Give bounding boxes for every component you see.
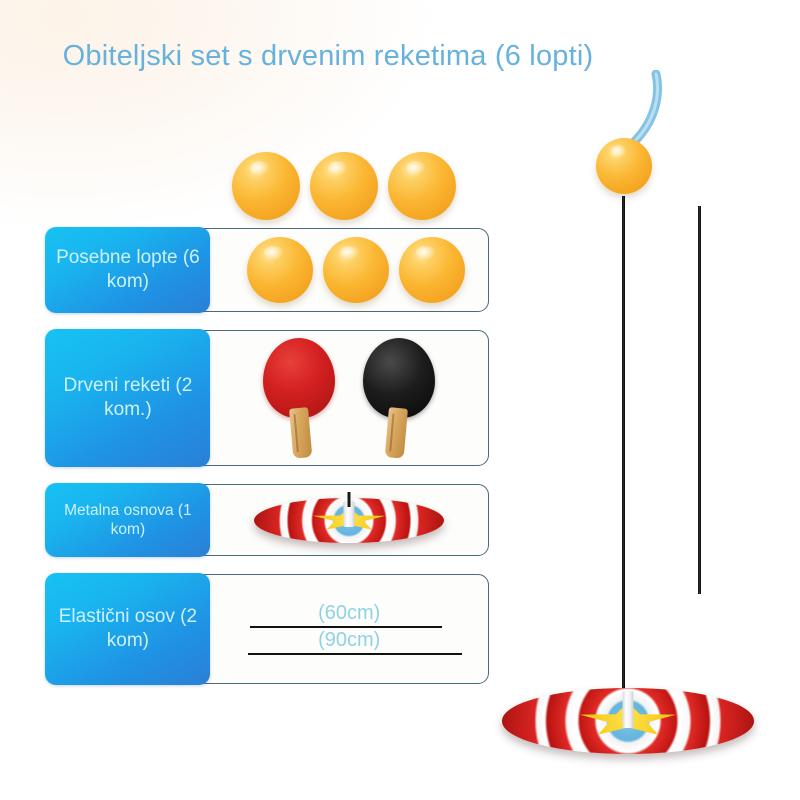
- spec-table: Posebne lopte (6 kom) Drveni reketi (2 k…: [46, 228, 489, 702]
- spec-row-rods: Elastični osov (2 kom) (60cm) (90cm): [46, 574, 489, 684]
- metal-base-icon: [254, 491, 444, 549]
- spec-content-balls: [210, 229, 488, 311]
- paddle-head: [363, 338, 435, 418]
- rod-line-60: [250, 626, 442, 628]
- spec-row-paddles: Drveni reketi (2 kom.): [46, 330, 489, 466]
- ping-pong-ball: [323, 237, 389, 303]
- balls-group: [247, 237, 465, 303]
- ping-pong-ball: [232, 152, 300, 220]
- spec-label-paddles: Drveni reketi (2 kom.): [45, 329, 210, 466]
- rod-measure-60: (60cm): [210, 603, 488, 628]
- spec-row-base: Metalna osnova (1 kom): [46, 484, 489, 556]
- spec-content-paddles: [210, 331, 488, 465]
- base-post: [623, 691, 634, 728]
- elastic-rod-main: [622, 196, 625, 708]
- rod-length-label-60: (60cm): [318, 603, 380, 624]
- ping-pong-ball: [247, 237, 313, 303]
- loose-balls-row: [232, 152, 456, 220]
- ping-pong-ball: [310, 152, 378, 220]
- spec-label-balls: Posebne lopte (6 kom): [45, 227, 210, 312]
- trainer-ball: [596, 138, 652, 194]
- product-infographic: Obiteljski set s drvenim reketima (6 lop…: [0, 0, 800, 800]
- spec-content-base: [210, 485, 488, 555]
- paddle-handle: [385, 407, 408, 458]
- base-rod-stub: [348, 492, 351, 507]
- rod-length-label-90: (90cm): [318, 630, 380, 651]
- spec-label-rods: Elastični osov (2 kom): [45, 573, 210, 684]
- metal-base-large: [502, 676, 754, 760]
- red-paddle-icon: [263, 338, 335, 458]
- spec-row-balls: Posebne lopte (6 kom): [46, 228, 489, 312]
- spec-label-base: Metalna osnova (1 kom): [45, 483, 210, 556]
- hero-product-illustration: [470, 28, 800, 800]
- ping-pong-ball: [388, 152, 456, 220]
- paddles-group: [263, 338, 435, 458]
- black-paddle-icon: [363, 338, 435, 458]
- rod-line-90: [248, 653, 462, 655]
- spec-content-rods: (60cm) (90cm): [210, 575, 488, 683]
- rod-measurements: (60cm) (90cm): [210, 575, 488, 683]
- rod-measure-90: (90cm): [210, 630, 488, 655]
- paddle-head: [263, 338, 335, 418]
- ping-pong-ball: [399, 237, 465, 303]
- elastic-rod-spare: [698, 206, 701, 594]
